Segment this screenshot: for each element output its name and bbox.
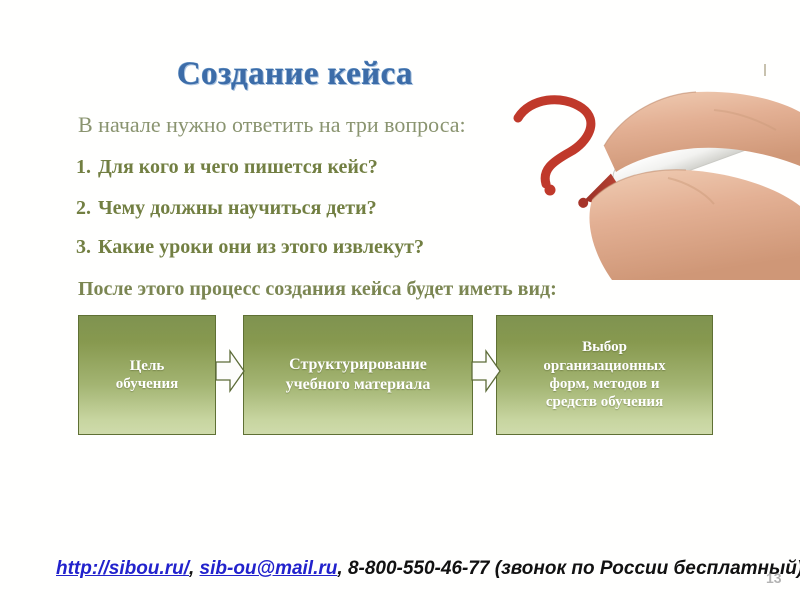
process-box-selection[interactable]: Выбор организационных форм, методов и ср… [496,315,713,435]
process-box-line: Цель [130,358,165,374]
process-box-line: форм, методов и [549,376,659,392]
email-link[interactable]: sib-ou@mail.ru [200,558,338,579]
page-title: Создание кейса [0,56,590,93]
intro-text: В начале нужно ответить на три вопроса: [78,112,466,138]
process-box-line: обучения [116,376,178,392]
process-box-label: Структурирование учебного материала [286,355,431,394]
footer-separator: , [189,558,200,579]
slide-canvas: Создание кейса В начале нужно ответить н… [0,0,800,600]
process-box-goal[interactable]: Цель обучения [78,315,216,435]
corner-mark [764,64,766,76]
question-number: 1. [76,156,98,179]
process-box-line: организационных [543,358,665,374]
question-text: Какие уроки они из этого извлекут? [98,236,424,258]
arrow-right-icon [471,348,501,394]
footer-separator: , [337,558,348,579]
process-box-line: средств обучения [546,394,663,410]
question-text: Чему должны научиться дети? [98,197,377,219]
process-lead-in-text: После этого процесс создания кейса будет… [78,278,557,301]
question-number: 3. [76,236,98,259]
question-number: 2. [76,197,98,220]
footer-phone-note: 8-800-550-46-77 (звонок по России беспла… [348,558,800,579]
question-item-1: 1.Для кого и чего пишется кейс? [76,156,378,179]
arrow-right-icon [215,348,245,394]
question-text: Для кого и чего пишется кейс? [98,156,378,178]
process-box-line: Структурирование [289,356,427,373]
process-box-label: Цель обучения [116,357,178,394]
process-box-line: учебного материала [286,376,431,393]
process-box-label: Выбор организационных форм, методов и ср… [543,338,665,411]
process-box-line: Выбор [582,339,627,355]
question-item-2: 2.Чему должны научиться дети? [76,197,377,220]
page-number: 13 [766,570,782,586]
process-box-structuring[interactable]: Структурирование учебного материала [243,315,473,435]
question-item-3: 3.Какие уроки они из этого извлекут? [76,236,424,259]
website-link[interactable]: http://sibou.ru/ [56,558,189,579]
footer-contact-line: http://sibou.ru/, sib-ou@mail.ru, 8-800-… [56,558,800,580]
